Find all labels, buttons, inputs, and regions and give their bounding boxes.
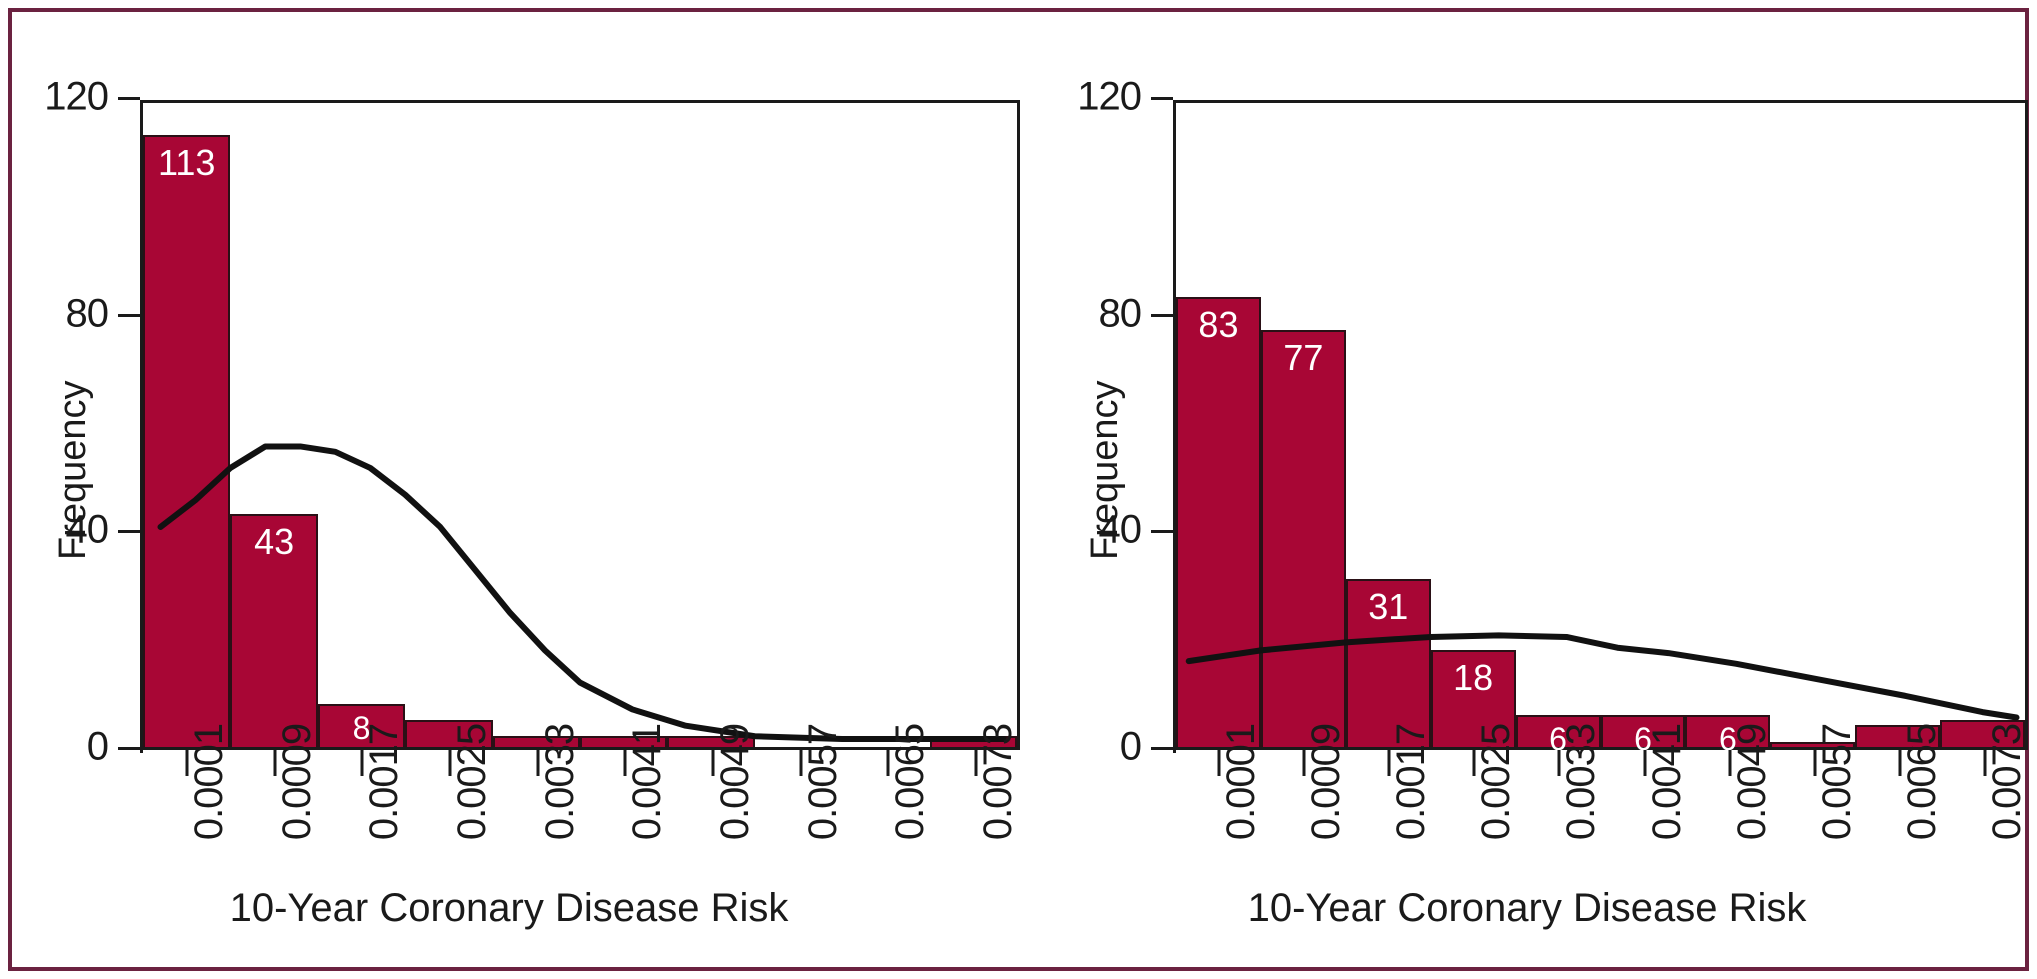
x-tick-label: 0.0041 — [1645, 724, 1690, 840]
bar-slot: 43 — [230, 103, 317, 747]
histogram-bar: 77 — [1261, 330, 1346, 747]
x-label-slot: 0.0065 — [1858, 782, 1943, 979]
y-tick-left-120: 120 — [118, 97, 140, 100]
x-label-slot: 0.0025 — [406, 782, 494, 979]
y-tick-label-right-0: 0 — [1120, 725, 1141, 770]
x-label-slot: 0.0001 — [143, 782, 231, 979]
x-label-slot: 0.0033 — [494, 782, 582, 979]
x-tick-label: 0.0049 — [1730, 724, 1775, 840]
x-tick-label: 0.0073 — [976, 724, 1021, 840]
y-tick-right-40: 40 — [1151, 530, 1173, 533]
bar-slot — [667, 103, 754, 747]
x-label-slot: 0.0009 — [1261, 782, 1346, 979]
x-tick-label: 0.0065 — [1900, 724, 1945, 840]
x-label-slot: 0.0057 — [1772, 782, 1857, 979]
figure-canvas: Frequency 0 40 80 120 — [0, 0, 2037, 979]
x-tick-label: 0.0041 — [625, 724, 670, 840]
x-label-slot: 0.0025 — [1432, 782, 1517, 979]
bar-slot — [1855, 103, 1940, 747]
bar-slot — [580, 103, 667, 747]
bar-slot: 31 — [1346, 103, 1431, 747]
bar-slot: 6 — [1516, 103, 1601, 747]
histogram-bar: 113 — [143, 135, 230, 747]
x-tick-label: 0.0057 — [1815, 724, 1860, 840]
bar-slot — [755, 103, 842, 747]
bar-slot: 6 — [1601, 103, 1686, 747]
x-label-slot: 0.0017 — [1346, 782, 1431, 979]
y-tick-label-left-120: 120 — [44, 75, 108, 120]
bar-slot — [493, 103, 580, 747]
bar-group-left: 113438 — [143, 103, 1017, 747]
x-tick-label: 0.0065 — [888, 724, 933, 840]
bar-value-label: 83 — [1198, 307, 1238, 747]
y-tick-right-80: 80 — [1151, 314, 1173, 317]
x-axis-title-left: 10-Year Coronary Disease Risk — [0, 886, 1018, 931]
x-label-slot: 0.0041 — [1602, 782, 1687, 979]
x-label-slot: 0.0017 — [318, 782, 406, 979]
y-tick-label-left-80: 80 — [66, 291, 109, 336]
bar-slot: 8 — [318, 103, 405, 747]
x-label-slot: 0.0041 — [582, 782, 670, 979]
x-label-slot: 0.0049 — [1687, 782, 1772, 979]
x-label-slot: 0.0073 — [932, 782, 1020, 979]
bar-slot — [930, 103, 1017, 747]
histogram-bar: 31 — [1346, 579, 1431, 747]
x-label-slot: 0.0073 — [1943, 782, 2028, 979]
x-tick-label: 0.0025 — [1474, 724, 1519, 840]
bar-slot: 113 — [143, 103, 230, 747]
y-tick-right-0: 0 — [1151, 747, 1173, 750]
y-tick-right-120: 120 — [1151, 97, 1173, 100]
x-tick-label: 0.0001 — [187, 724, 232, 840]
axis-frame-left: 0 40 80 120 113438 — [140, 100, 1020, 750]
bar-value-label: 43 — [254, 524, 294, 747]
plot-area-right: 0 40 80 120 83773118666 0.00010.00090. — [1173, 100, 2028, 750]
x-tick-label-group-right: 0.00010.00090.00170.00250.00330.00410.00… — [1176, 782, 2028, 979]
bar-slot — [842, 103, 929, 747]
plot-area-left: 0 40 80 120 113438 0.00010.00090.00170 — [140, 100, 1020, 750]
histogram-bar: 43 — [230, 514, 317, 747]
x-tick-label: 0.0057 — [801, 724, 846, 840]
y-tick-label-left-40: 40 — [66, 508, 109, 553]
x-tick-label: 0.0017 — [1389, 724, 1434, 840]
bar-value-label: 113 — [158, 145, 215, 747]
x-tick-label: 0.0017 — [362, 724, 407, 840]
x-tick-label: 0.0033 — [1559, 724, 1604, 840]
bar-slot — [1770, 103, 1855, 747]
bar-value-label: 77 — [1283, 340, 1323, 747]
x-tick-label: 0.0009 — [275, 724, 320, 840]
panel-container: Frequency 0 40 80 120 — [0, 0, 2037, 979]
x-label-slot: 0.0009 — [231, 782, 319, 979]
bar-slot: 83 — [1176, 103, 1261, 747]
y-tick-left-40: 40 — [118, 530, 140, 533]
bar-group-right: 83773118666 — [1176, 103, 2025, 747]
x-tick-label: 0.0033 — [538, 724, 583, 840]
histogram-bar: 83 — [1176, 297, 1261, 747]
bar-slot: 77 — [1261, 103, 1346, 747]
x-tick-label: 0.0025 — [450, 724, 495, 840]
x-label-slot: 0.0001 — [1176, 782, 1261, 979]
chart-panel-left: Frequency 0 40 80 120 — [0, 0, 1018, 979]
x-label-slot: 0.0033 — [1517, 782, 1602, 979]
x-tick-label: 0.0073 — [1985, 724, 2030, 840]
chart-panel-right: Frequency 0 40 80 120 — [1018, 0, 2036, 979]
x-tick-label: 0.0001 — [1219, 724, 1264, 840]
y-tick-label-right-80: 80 — [1099, 291, 1142, 336]
x-tick-label-group-left: 0.00010.00090.00170.00250.00330.00410.00… — [143, 782, 1020, 979]
axis-frame-right: 0 40 80 120 83773118666 — [1173, 100, 2028, 750]
x-label-slot: 0.0049 — [669, 782, 757, 979]
y-tick-label-right-120: 120 — [1077, 75, 1141, 120]
y-tick-label-left-0: 0 — [87, 725, 108, 770]
x-tick-label: 0.0049 — [713, 724, 758, 840]
bar-slot: 6 — [1685, 103, 1770, 747]
x-label-slot: 0.0057 — [757, 782, 845, 979]
bar-slot: 18 — [1431, 103, 1516, 747]
x-axis-title-right: 10-Year Coronary Disease Risk — [1018, 886, 2036, 931]
x-label-slot: 0.0065 — [845, 782, 933, 979]
y-tick-left-80: 80 — [118, 314, 140, 317]
y-tick-label-right-40: 40 — [1099, 508, 1142, 553]
y-tick-left-0: 0 — [118, 747, 140, 750]
bar-slot — [405, 103, 492, 747]
x-tick-label: 0.0009 — [1304, 724, 1349, 840]
bar-slot — [1940, 103, 2025, 747]
